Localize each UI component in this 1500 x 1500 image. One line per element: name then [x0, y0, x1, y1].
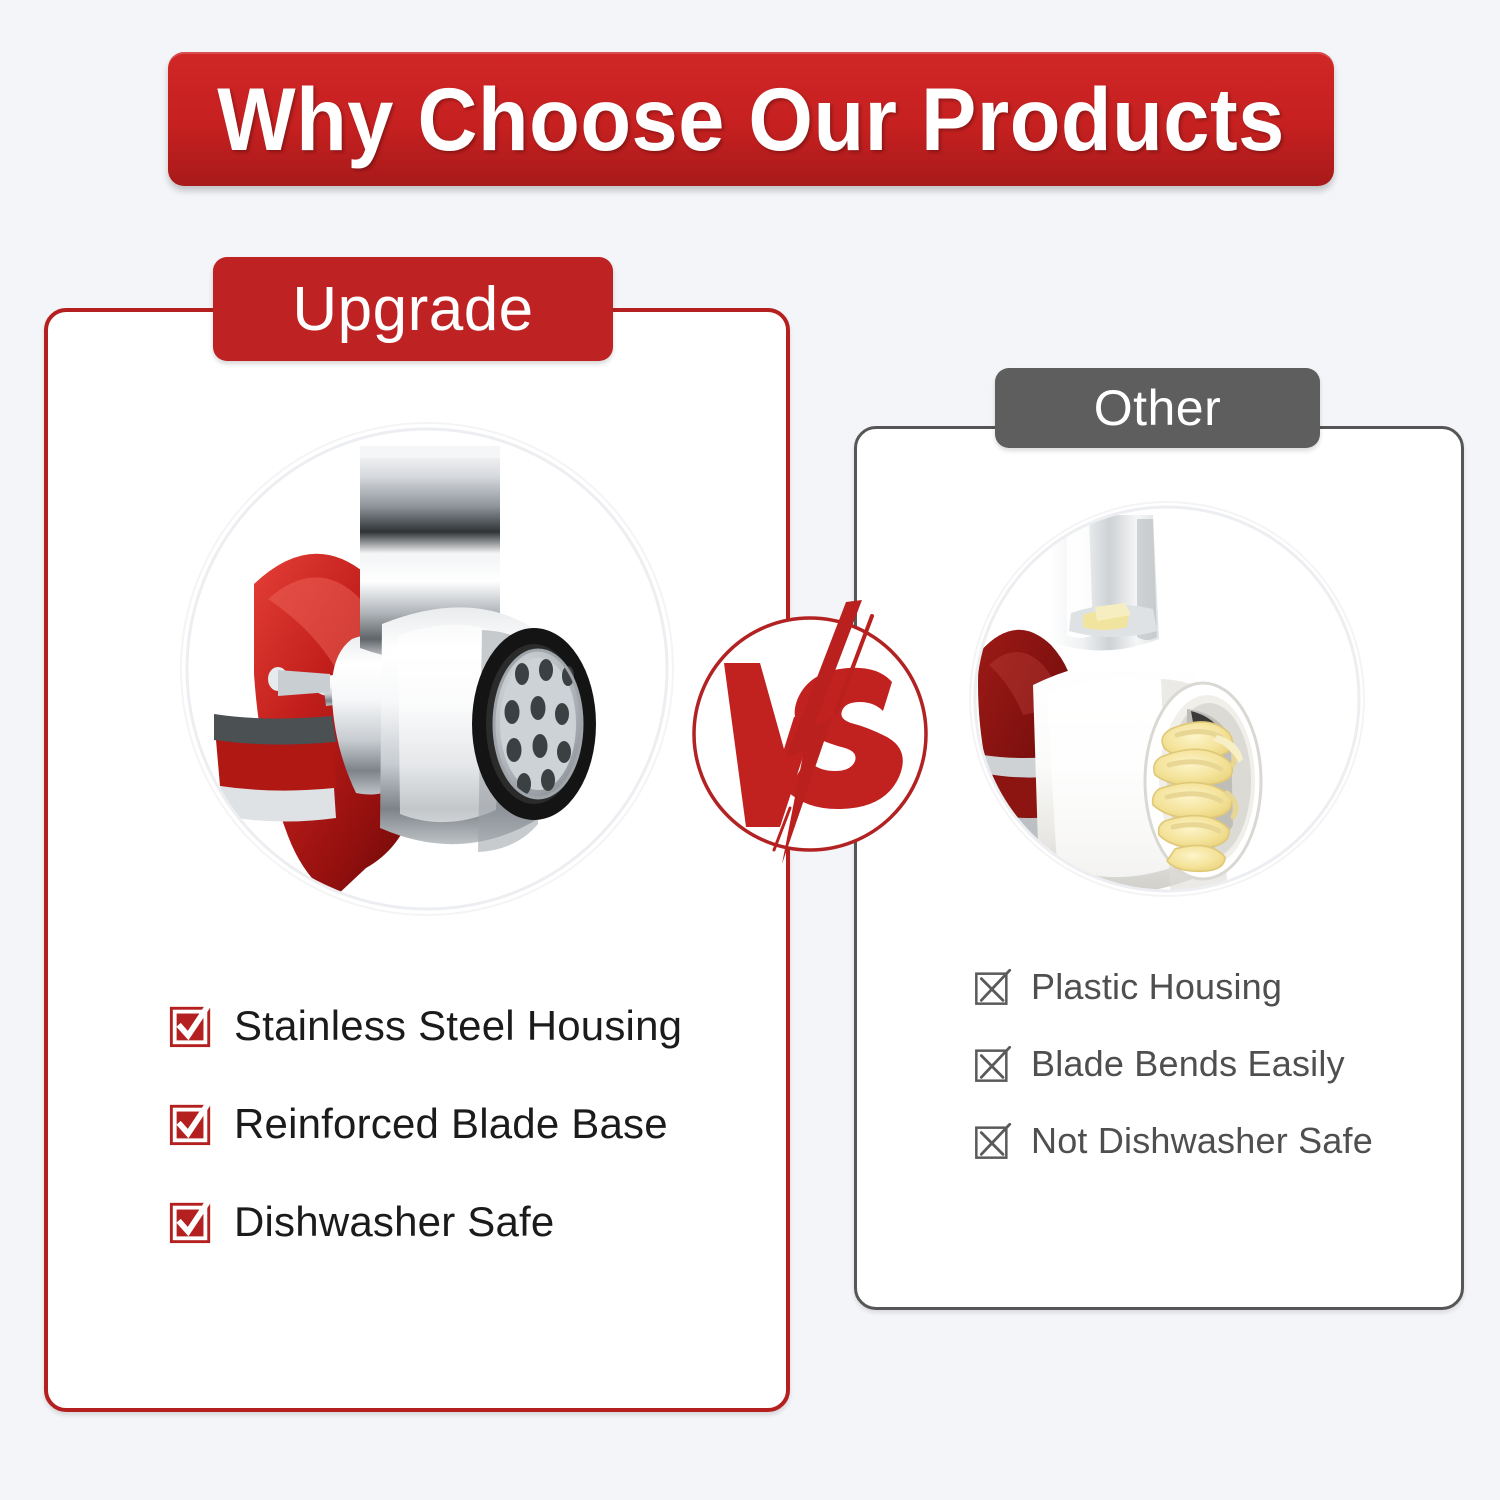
list-item: Not Dishwasher Safe: [973, 1120, 1403, 1162]
checkbox-crossed-icon: [973, 967, 1013, 1007]
checkbox-crossed-icon: [973, 1044, 1013, 1084]
other-tab-label: Other: [1094, 379, 1222, 437]
upgrade-feature-list: Stainless Steel Housing Reinforced Blade…: [168, 1002, 728, 1246]
plastic-slicer-shredder-illustration: [971, 503, 1363, 895]
checkbox-checked-icon: [168, 1101, 214, 1147]
checkbox-crossed-icon: [973, 1121, 1013, 1161]
list-item-label: Stainless Steel Housing: [234, 1002, 682, 1050]
checkbox-checked-icon: [168, 1199, 214, 1245]
list-item-label: Plastic Housing: [1031, 966, 1282, 1008]
other-product-image: [971, 503, 1363, 895]
list-item: Dishwasher Safe: [168, 1198, 728, 1246]
upgrade-tab-badge[interactable]: Upgrade: [213, 257, 613, 361]
list-item-label: Blade Bends Easily: [1031, 1043, 1345, 1085]
list-item: Plastic Housing: [973, 966, 1403, 1008]
list-item: Blade Bends Easily: [973, 1043, 1403, 1085]
other-tab-badge[interactable]: Other: [995, 368, 1320, 448]
list-item-label: Not Dishwasher Safe: [1031, 1120, 1373, 1162]
vs-badge: [686, 600, 948, 870]
list-item: Reinforced Blade Base: [168, 1100, 728, 1148]
upgrade-panel: Stainless Steel Housing Reinforced Blade…: [44, 308, 790, 1412]
upgrade-product-image: [182, 424, 672, 914]
list-item-label: Dishwasher Safe: [234, 1198, 554, 1246]
meat-grinder-attachment-illustration: [182, 424, 672, 914]
page-title: Why Choose Our Products: [217, 75, 1285, 164]
upgrade-tab-label: Upgrade: [292, 274, 533, 345]
list-item: Stainless Steel Housing: [168, 1002, 728, 1050]
checkbox-checked-icon: [168, 1003, 214, 1049]
header-banner: Why Choose Our Products: [168, 52, 1334, 186]
list-item-label: Reinforced Blade Base: [234, 1100, 668, 1148]
vs-lightning-icon: [686, 600, 948, 870]
other-feature-list: Plastic Housing Blade Bends Easily Not D…: [973, 966, 1403, 1162]
